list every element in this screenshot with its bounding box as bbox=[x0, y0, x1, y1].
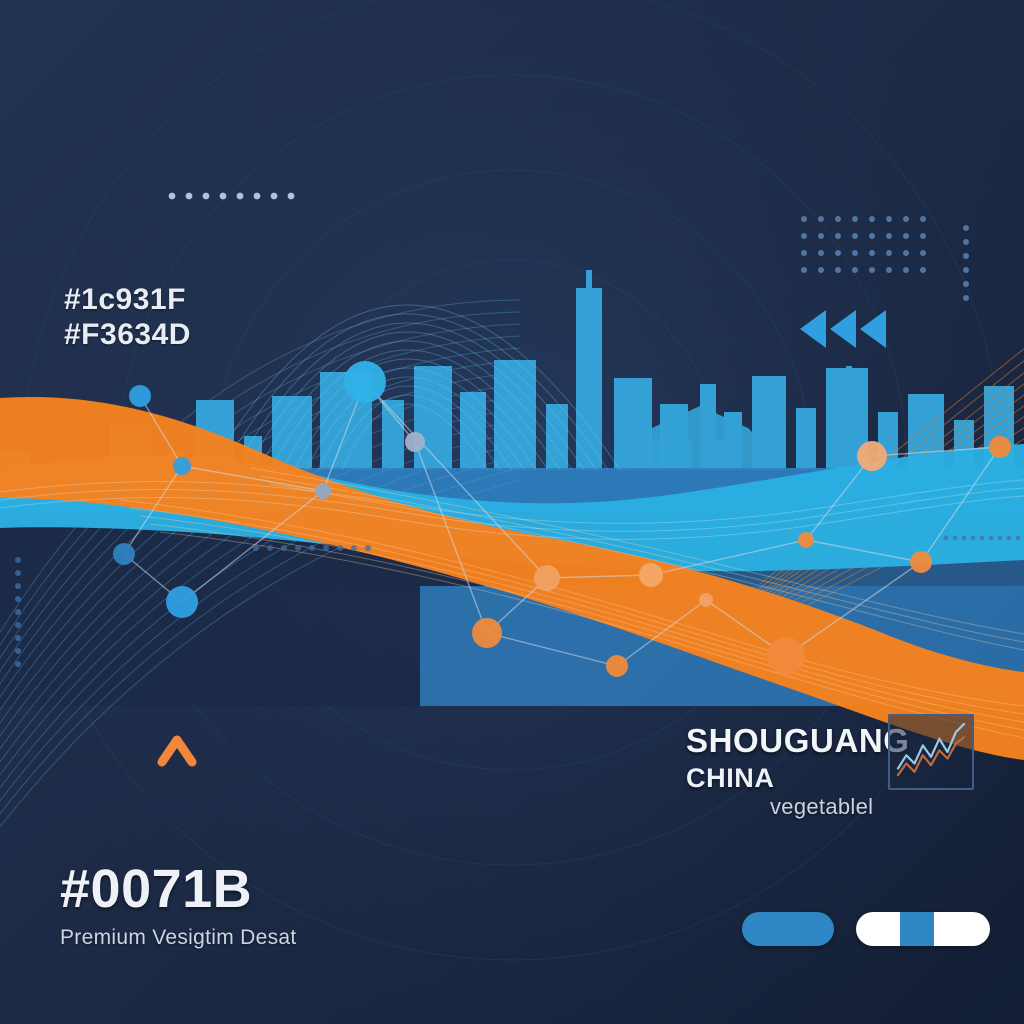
network-node bbox=[989, 436, 1011, 458]
toggle-secondary-knob[interactable] bbox=[860, 915, 888, 943]
decorative-dot bbox=[323, 545, 329, 551]
decorative-dot bbox=[869, 233, 875, 239]
network-node bbox=[315, 483, 331, 499]
decorative-dot bbox=[886, 267, 892, 273]
mid-left-dot-row bbox=[253, 545, 371, 551]
network-node bbox=[113, 543, 135, 565]
color-code-text: #0071B bbox=[60, 862, 297, 916]
decorative-dot bbox=[886, 233, 892, 239]
decorative-dot bbox=[852, 216, 858, 222]
decorative-dot bbox=[267, 545, 273, 551]
network-node bbox=[639, 563, 663, 587]
decorative-dot bbox=[869, 267, 875, 273]
decorative-dot bbox=[962, 536, 967, 541]
decorative-dot bbox=[869, 216, 875, 222]
decorative-dot bbox=[944, 536, 949, 541]
decorative-dot bbox=[220, 193, 227, 200]
decorative-dot bbox=[818, 267, 824, 273]
decorative-dot bbox=[15, 648, 21, 654]
decorative-dot bbox=[835, 216, 841, 222]
network-node bbox=[129, 385, 151, 407]
decorative-dot bbox=[237, 193, 244, 200]
decorative-dot bbox=[365, 545, 371, 551]
hex-label-list: #1c931F #F3634D bbox=[64, 282, 191, 352]
decorative-dot bbox=[15, 557, 21, 563]
network-node bbox=[166, 586, 198, 618]
bottom-left-code-block: #0071B Premium Vesigtim Desat bbox=[60, 862, 297, 950]
decorative-dot bbox=[801, 233, 807, 239]
decorative-dot bbox=[801, 267, 807, 273]
toggle-primary[interactable] bbox=[742, 912, 834, 946]
decorative-dot bbox=[835, 233, 841, 239]
decorative-dot bbox=[852, 250, 858, 256]
decorative-dot bbox=[920, 233, 926, 239]
decorative-dot bbox=[835, 267, 841, 273]
network-node bbox=[606, 655, 628, 677]
trend-line-chart-icon bbox=[888, 714, 974, 790]
decorative-dot bbox=[1016, 536, 1021, 541]
decorative-dot bbox=[15, 622, 21, 628]
decorative-dot bbox=[852, 233, 858, 239]
decorative-dot bbox=[963, 281, 969, 287]
decorative-dot bbox=[818, 233, 824, 239]
decorative-dot bbox=[963, 225, 969, 231]
brand-line-category: vegetablel bbox=[770, 796, 996, 818]
decorative-dot bbox=[288, 193, 295, 200]
decorative-dot bbox=[869, 250, 875, 256]
decorative-dot bbox=[920, 250, 926, 256]
decorative-dot bbox=[971, 536, 976, 541]
network-node bbox=[857, 441, 887, 471]
network-node bbox=[534, 565, 560, 591]
decorative-dot bbox=[963, 239, 969, 245]
banner-canvas: #1c931F #F3634D #0071B Premium Vesigtim … bbox=[0, 0, 1024, 1024]
decorative-dot bbox=[953, 536, 958, 541]
decorative-dot bbox=[801, 250, 807, 256]
toggle-group bbox=[742, 912, 990, 946]
decorative-dot bbox=[254, 193, 261, 200]
hex-label-0: #1c931F bbox=[64, 282, 191, 317]
decorative-dot bbox=[886, 250, 892, 256]
decorative-dot bbox=[15, 661, 21, 667]
decorative-dot bbox=[903, 233, 909, 239]
network-node bbox=[910, 551, 932, 573]
network-node bbox=[344, 361, 386, 403]
network-node bbox=[472, 618, 502, 648]
decorative-dot bbox=[903, 216, 909, 222]
decorative-dot bbox=[15, 583, 21, 589]
decorative-dot bbox=[15, 596, 21, 602]
decorative-dot bbox=[835, 250, 841, 256]
decorative-dot bbox=[989, 536, 994, 541]
decorative-dot bbox=[15, 609, 21, 615]
decorative-dot bbox=[337, 545, 343, 551]
decorative-dot bbox=[920, 216, 926, 222]
decorative-dot bbox=[963, 253, 969, 259]
decorative-dot bbox=[963, 267, 969, 273]
decorative-dot bbox=[818, 216, 824, 222]
network-node bbox=[173, 457, 191, 475]
network-node bbox=[699, 593, 713, 607]
decorative-dot bbox=[15, 570, 21, 576]
decorative-dot bbox=[169, 193, 176, 200]
hex-label-1: #F3634D bbox=[64, 317, 191, 352]
network-node bbox=[405, 432, 425, 452]
network-node bbox=[767, 637, 805, 675]
toggle-secondary-segment bbox=[900, 912, 934, 946]
decorative-dot bbox=[801, 216, 807, 222]
toggle-secondary[interactable] bbox=[856, 912, 990, 946]
decorative-dot bbox=[818, 250, 824, 256]
decorative-dot bbox=[1007, 536, 1012, 541]
color-code-caption: Premium Vesigtim Desat bbox=[60, 926, 297, 950]
decorative-dot bbox=[886, 216, 892, 222]
decorative-dot bbox=[203, 193, 210, 200]
bottom-right-dot-row bbox=[944, 536, 1021, 541]
decorative-dot bbox=[903, 250, 909, 256]
decorative-dot bbox=[351, 545, 357, 551]
decorative-dot bbox=[295, 545, 301, 551]
decorative-dot bbox=[963, 295, 969, 301]
decorative-dot bbox=[186, 193, 193, 200]
decorative-dot bbox=[281, 545, 287, 551]
decorative-dot bbox=[980, 536, 985, 541]
decorative-dot bbox=[920, 267, 926, 273]
decorative-dot bbox=[15, 635, 21, 641]
decorative-dot bbox=[309, 545, 315, 551]
network-node bbox=[798, 532, 814, 548]
decorative-dot bbox=[998, 536, 1003, 541]
decorative-dot bbox=[903, 267, 909, 273]
decorative-dot bbox=[852, 267, 858, 273]
decorative-dot bbox=[271, 193, 278, 200]
decorative-dot bbox=[253, 545, 259, 551]
left-dot-column bbox=[15, 557, 21, 667]
